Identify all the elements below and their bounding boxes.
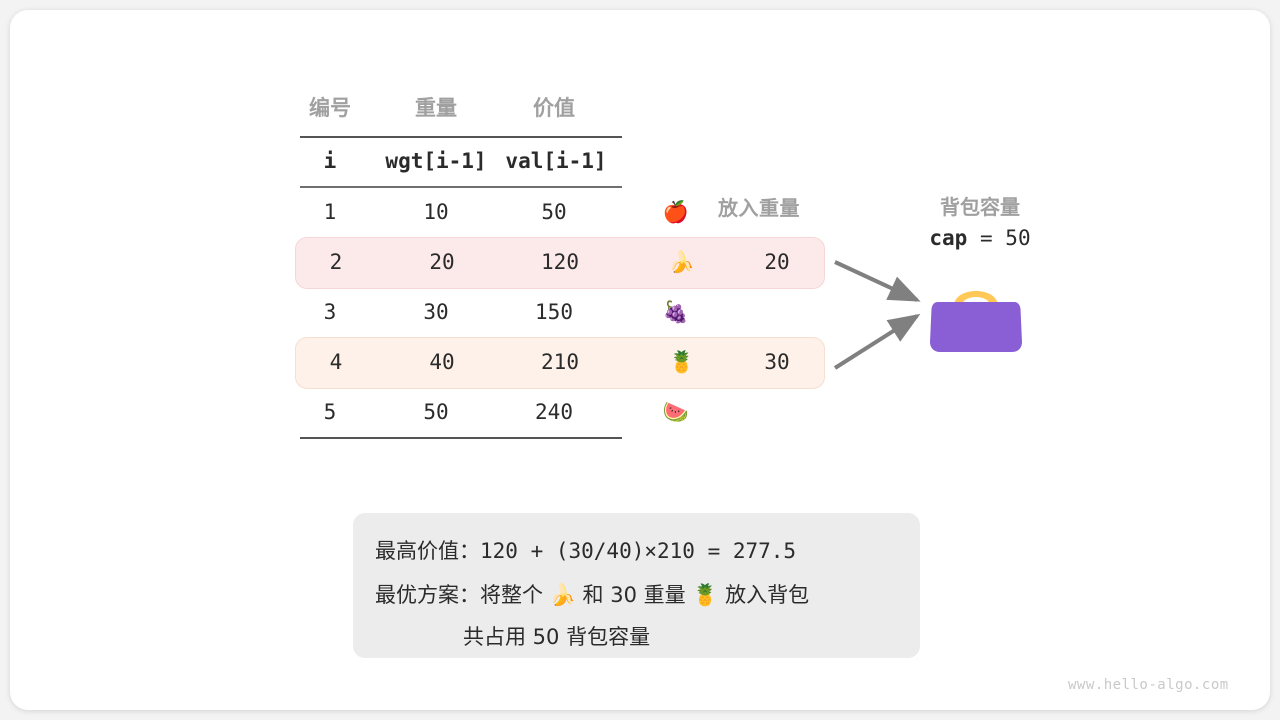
- table-row[interactable]: 2 20 120 🍌 20: [295, 237, 825, 289]
- cell-value: 150: [504, 287, 604, 337]
- table-rule-bottom: [300, 437, 622, 439]
- capacity-var-name: cap: [929, 226, 967, 250]
- table-header-row: 编号 重量 价值: [290, 80, 850, 136]
- column-header-index: 编号: [300, 80, 360, 136]
- table-subheader-row: i wgt[i-1] val[i-1]: [290, 136, 850, 186]
- capacity-number: 50: [1005, 226, 1030, 250]
- banana-emoji: 🍌: [550, 583, 576, 607]
- capacity-label: 背包容量: [905, 191, 1055, 220]
- cell-weight: 20: [397, 237, 487, 287]
- column-header-weight: 重量: [391, 80, 481, 136]
- arrow-banana-to-bag: [835, 262, 917, 300]
- cell-weight: 30: [391, 287, 481, 337]
- cell-index: 5: [300, 387, 360, 437]
- cell-index: 2: [306, 237, 366, 287]
- summary-box: 最高价值：120 + (30/40)×210 = 277.5 最优方案：将整个 …: [353, 513, 920, 658]
- cell-index: 4: [306, 337, 366, 387]
- pineapple-emoji: 🍍: [652, 337, 712, 387]
- capacity-value: cap = 50: [895, 226, 1065, 250]
- arrow-pineapple-to-bag: [835, 316, 917, 368]
- items-table: 编号 重量 价值 i wgt[i-1] val[i-1] 1 10 50 🍎 2…: [290, 80, 850, 186]
- summary-optimal-part3: 放入背包: [725, 583, 809, 607]
- summary-max-value-expr: 120 + (30/40)×210 = 277.5: [480, 539, 796, 563]
- watermark: www.hello-algo.com: [1068, 677, 1229, 693]
- cell-weight: 40: [397, 337, 487, 387]
- cell-put-weight: 30: [732, 337, 822, 387]
- diagram-canvas: 编号 重量 价值 i wgt[i-1] val[i-1] 1 10 50 🍎 2…: [0, 0, 1280, 720]
- summary-line-capacity-used: 共占用 50 背包容量: [463, 621, 650, 651]
- column-header-value: 价值: [504, 80, 604, 136]
- pineapple-emoji: 🍍: [692, 583, 718, 607]
- cell-weight: 10: [391, 187, 481, 237]
- purple-handbag-icon: [930, 272, 1022, 354]
- cell-value: 120: [510, 237, 610, 287]
- summary-optimal-part1: 将整个: [480, 583, 543, 607]
- cell-value: 210: [510, 337, 610, 387]
- cell-put-weight: 20: [732, 237, 822, 287]
- table-row[interactable]: 4 40 210 🍍 30: [295, 337, 825, 389]
- cell-index: 3: [300, 287, 360, 337]
- cell-weight: 50: [391, 387, 481, 437]
- subheader-wgt: wgt[i-1]: [376, 136, 496, 186]
- cell-put-weight: [726, 387, 816, 437]
- banana-emoji: 🍌: [652, 237, 712, 287]
- apple-emoji: 🍎: [646, 187, 706, 237]
- grapes-emoji: 🍇: [646, 287, 706, 337]
- cell-value: 50: [504, 187, 604, 237]
- cell-value: 240: [504, 387, 604, 437]
- subheader-i: i: [300, 136, 360, 186]
- flow-arrows: [825, 250, 935, 380]
- subheader-val: val[i-1]: [496, 136, 616, 186]
- summary-max-value-label: 最高价值：: [375, 539, 480, 563]
- capacity-equals: =: [980, 226, 993, 250]
- summary-line-max-value: 最高价值：120 + (30/40)×210 = 277.5: [375, 535, 796, 565]
- put-weight-label: 放入重量: [718, 192, 800, 221]
- watermelon-emoji: 🍉: [646, 387, 706, 437]
- cell-put-weight: [726, 287, 816, 337]
- summary-line-optimal-plan: 最优方案：将整个 🍌 和 30 重量 🍍 放入背包: [375, 579, 809, 609]
- summary-optimal-part2: 和 30 重量: [583, 583, 686, 607]
- cell-index: 1: [300, 187, 360, 237]
- summary-optimal-label: 最优方案：: [375, 583, 480, 607]
